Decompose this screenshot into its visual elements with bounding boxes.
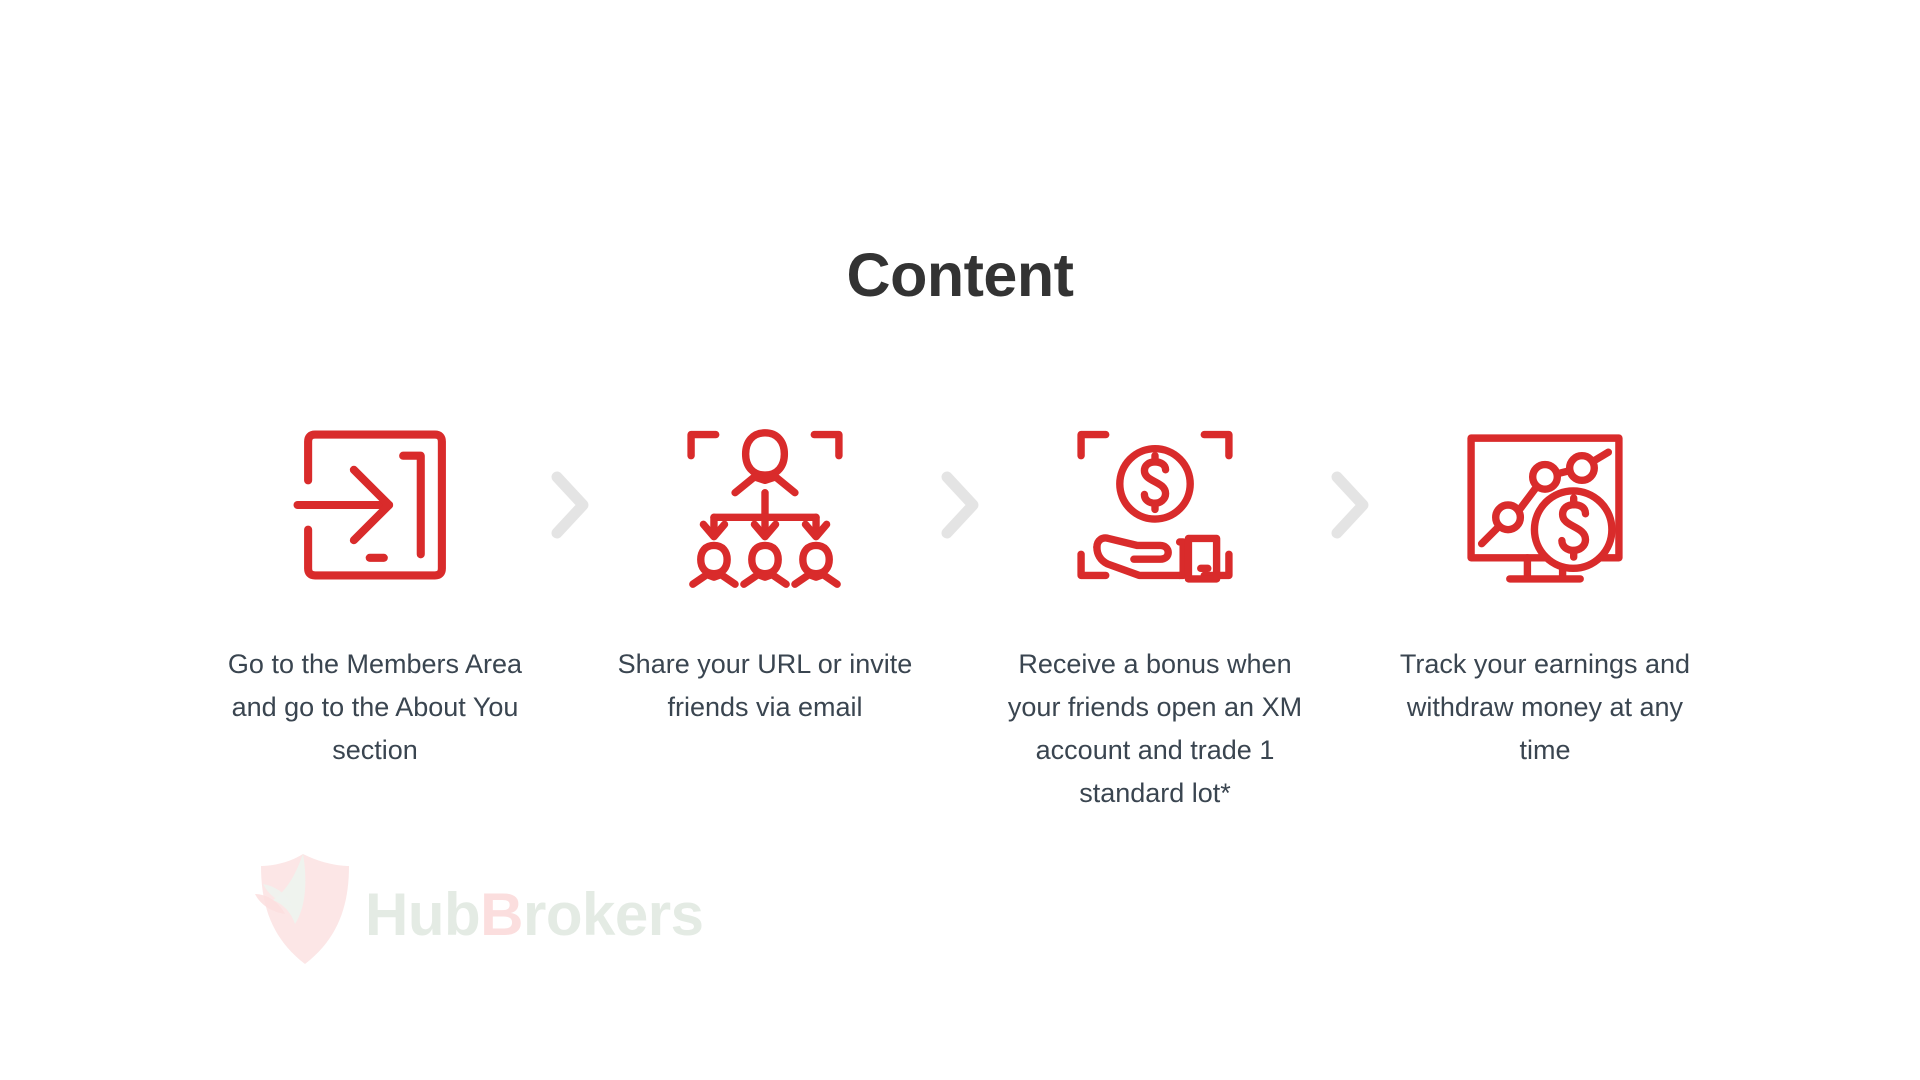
steps-row: Go to the Members Area and go to the Abo… — [0, 405, 1920, 815]
step-caption-3: Receive a bonus when your friends open a… — [1005, 643, 1305, 815]
watermark-text-rokers: rokers — [523, 881, 703, 948]
step-item-3: Receive a bonus when your friends open a… — [1005, 405, 1305, 815]
hubbrokers-shield-logo — [245, 846, 365, 976]
watermark-text-b: B — [480, 881, 523, 948]
chevron-right-icon — [1305, 405, 1395, 605]
step-caption-1: Go to the Members Area and go to the Abo… — [225, 643, 525, 772]
watermark: HubBrokers — [245, 845, 765, 985]
watermark-text: HubBrokers — [365, 885, 703, 945]
referral-network-icon — [665, 405, 865, 605]
monitor-chart-dollar-icon — [1445, 405, 1645, 605]
step-item-2: Share your URL or invite friends via ema… — [615, 405, 915, 729]
watermark-text-hub: Hub — [365, 881, 480, 948]
chevron-right-icon — [525, 405, 615, 605]
step-caption-2: Share your URL or invite friends via ema… — [615, 643, 915, 729]
step-caption-4: Track your earnings and withdraw money a… — [1380, 643, 1710, 772]
step-item-4: Track your earnings and withdraw money a… — [1395, 405, 1695, 772]
page-root: Content Go to the Members Area and — [0, 0, 1920, 1080]
step-item-1: Go to the Members Area and go to the Abo… — [225, 405, 525, 772]
chevron-right-icon — [915, 405, 1005, 605]
page-title: Content — [0, 245, 1920, 306]
hand-receiving-dollar-icon — [1055, 405, 1255, 605]
login-arrow-icon — [275, 405, 475, 605]
